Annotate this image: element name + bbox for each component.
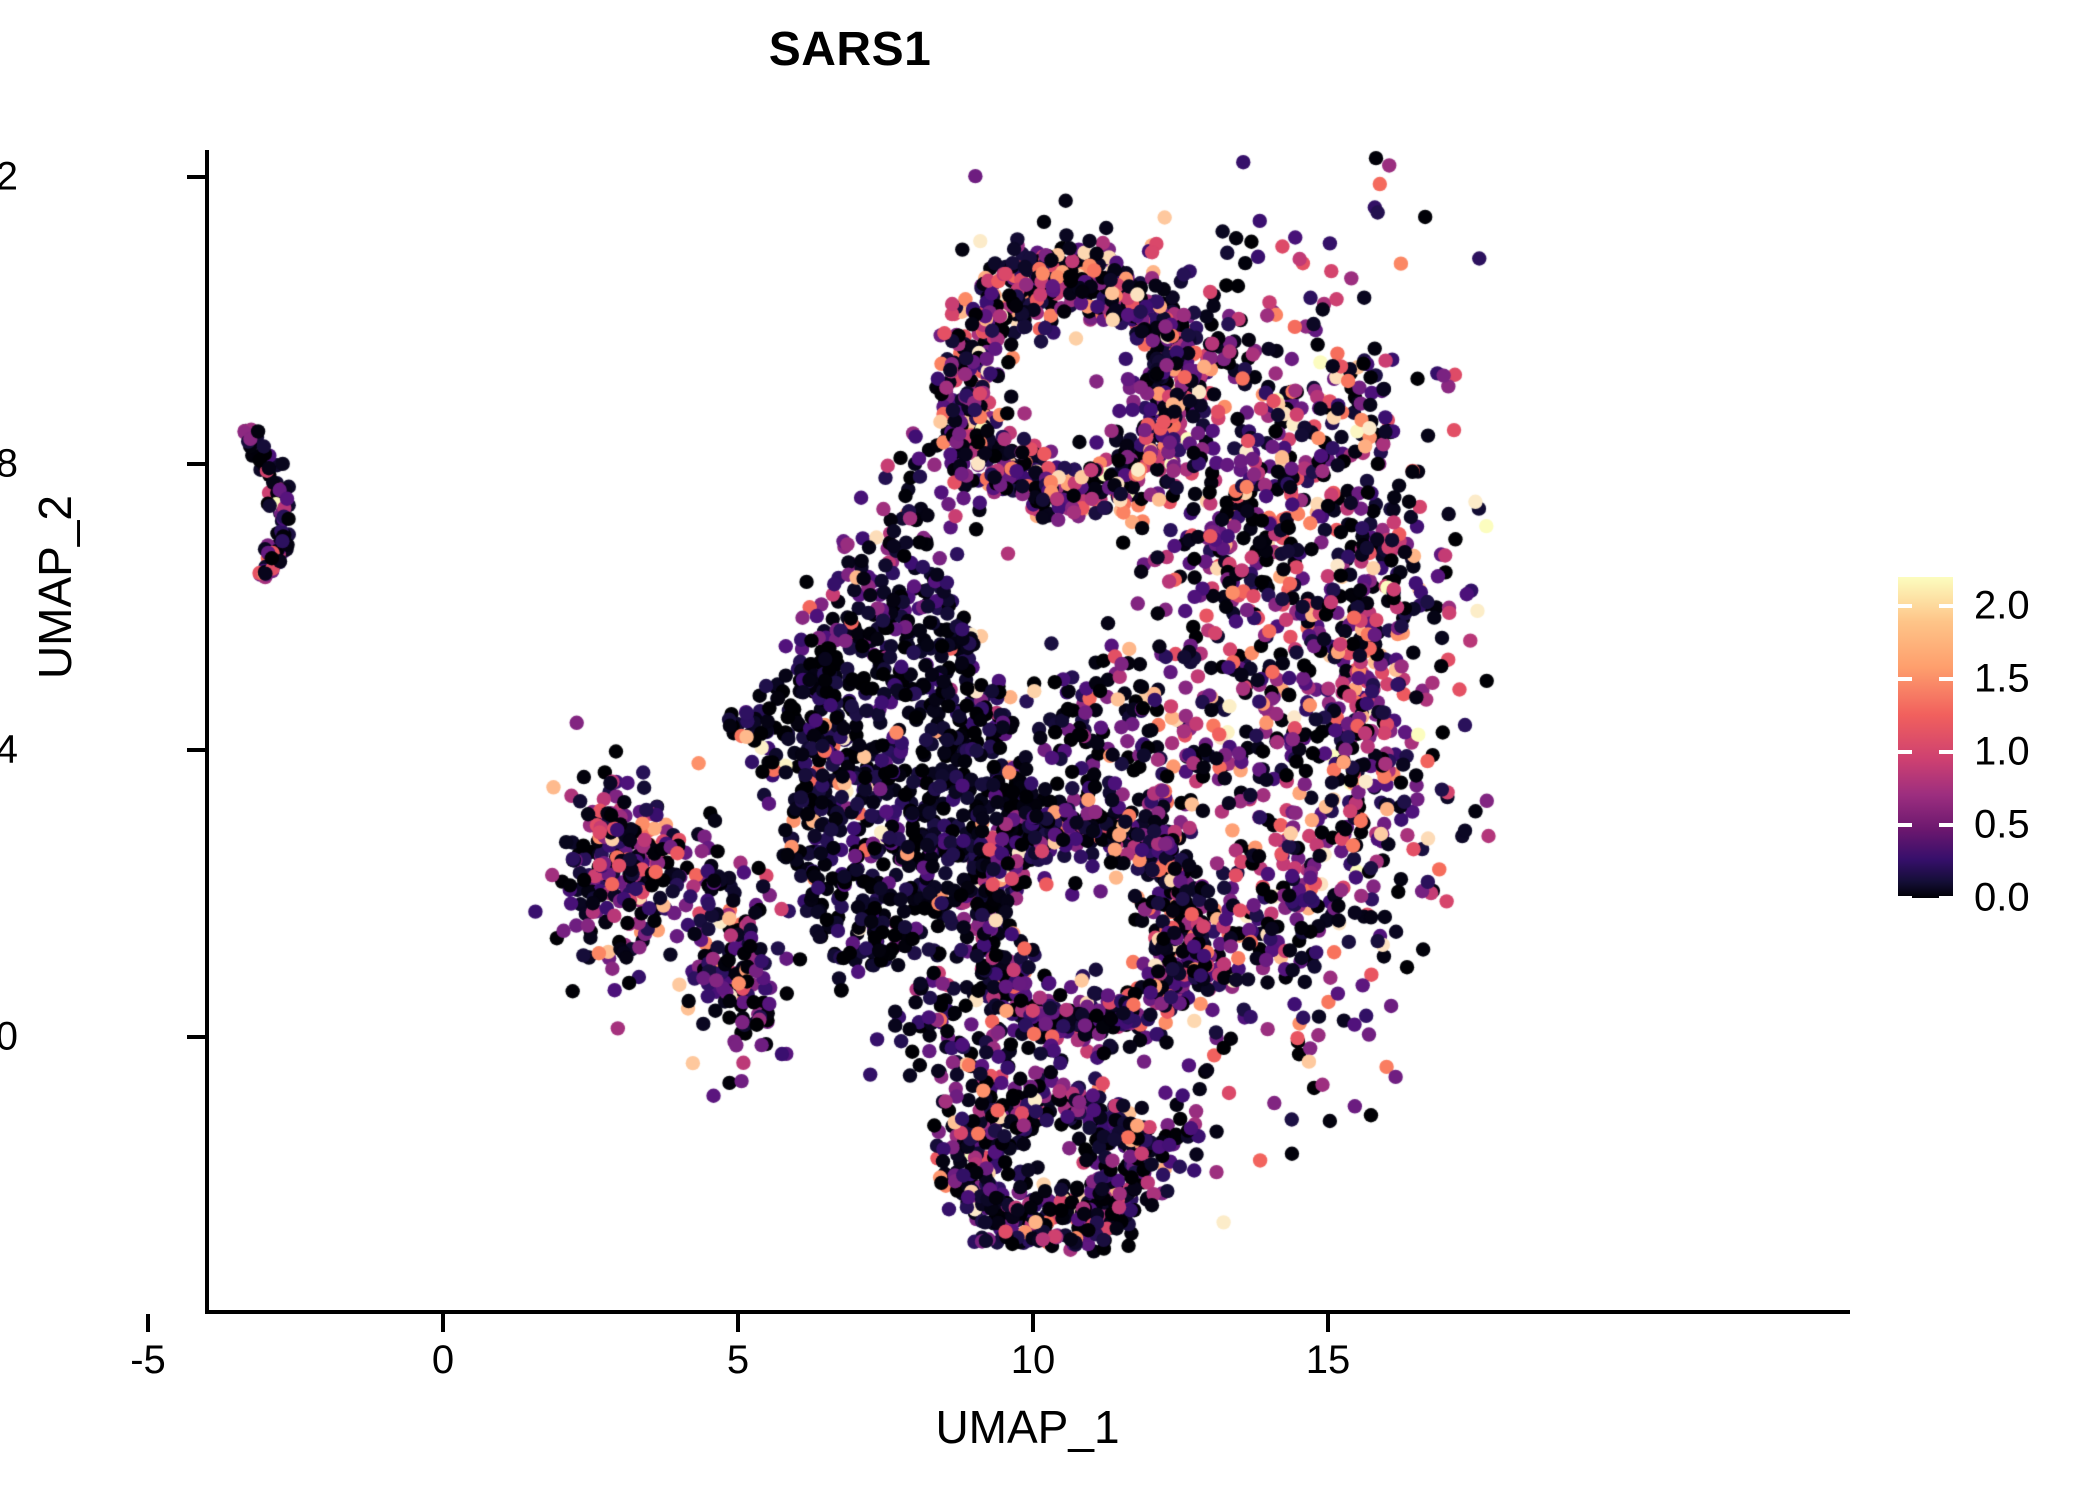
x-tick-mark [736,1314,740,1332]
colorbar-tick-label: 0.0 [1974,876,2030,921]
umap-scatter-figure: SARS1 04812 -5051015 UMAP_1 UMAP_2 2.01.… [0,0,2100,1500]
colorbar-tick-mark [1939,750,1953,754]
colorbar-tick-label: 2.0 [1974,584,2030,629]
colorbar-tick-label: 1.5 [1974,657,2030,702]
x-axis-line [205,1310,1850,1314]
x-tick-label: -5 [130,1338,166,1383]
page-title: SARS1 [0,22,1700,77]
colorbar-tick-label: 0.5 [1974,803,2030,848]
colorbar-tick-mark [1898,750,1912,754]
colorbar-tick-mark [1939,896,1953,900]
y-tick-label: 12 [0,155,18,200]
colorbar-tick-mark [1898,823,1912,827]
y-tick-label: 8 [0,441,18,486]
scatter-plot-canvas [207,150,1847,1312]
colorbar-legend: 2.01.51.00.50.0 [1898,577,2098,907]
x-tick-label: 0 [432,1338,454,1383]
x-tick-label: 10 [1011,1338,1056,1383]
x-tick-label: 5 [727,1338,749,1383]
colorbar-tick-mark [1898,604,1912,608]
x-tick-mark [1031,1314,1035,1332]
y-tick-label: 0 [0,1015,18,1060]
plot-panel [207,150,1847,1312]
x-tick-mark [146,1314,150,1332]
y-tick-mark [187,462,205,466]
colorbar-tick-mark [1898,677,1912,681]
colorbar-gradient [1898,577,1953,898]
x-axis-title: UMAP_1 [205,1400,1850,1454]
x-tick-label: 15 [1306,1338,1351,1383]
colorbar-tick-mark [1898,896,1912,900]
colorbar-tick-mark [1939,604,1953,608]
colorbar-tick-label: 1.0 [1974,730,2030,775]
y-tick-mark [187,1035,205,1039]
y-tick-label: 4 [0,728,18,773]
x-tick-mark [441,1314,445,1332]
colorbar-tick-mark [1939,677,1953,681]
y-tick-mark [187,175,205,179]
y-axis-title: UMAP_2 [28,287,82,887]
y-axis-line [205,150,209,1312]
y-tick-mark [187,748,205,752]
x-tick-mark [1326,1314,1330,1332]
colorbar-tick-mark [1939,823,1953,827]
